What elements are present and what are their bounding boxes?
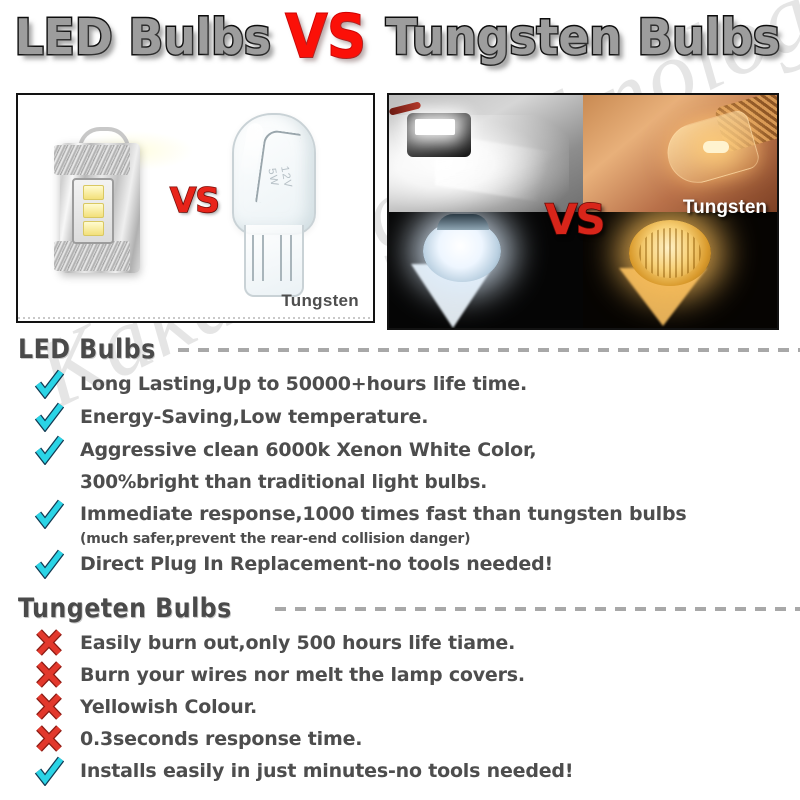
check-icon xyxy=(34,369,64,399)
tungsten-section-title: Tungeten Bulbs xyxy=(18,594,232,624)
list-item-label: Burn your wires nor melt the lamp covers… xyxy=(80,664,525,686)
tungsten-filament-glow xyxy=(703,141,729,153)
photo-tungsten-bulb-lit xyxy=(583,95,777,212)
list-item: Burn your wires nor melt the lamp covers… xyxy=(0,659,800,691)
led-chip-window xyxy=(72,178,114,244)
list-item-label: Aggressive clean 6000k Xenon White Color… xyxy=(80,439,536,461)
list-item-body: Installs easily in just minutes-no tools… xyxy=(64,755,800,787)
list-item-label-continued: 300%bright than traditional light bulbs. xyxy=(80,466,778,498)
tungsten-headlight-reflector-rings xyxy=(639,228,701,278)
led-chip xyxy=(83,203,104,218)
led-section-title: LED Bulbs xyxy=(18,335,156,365)
list-item-subtext: (much safer,prevent the rear-end collisi… xyxy=(80,531,470,547)
led-bulb-illustration xyxy=(52,125,148,290)
tungsten-caption-right: Tungsten xyxy=(683,197,767,219)
list-item-body: Easily burn out,only 500 hours life tiam… xyxy=(64,627,800,659)
tungsten-caption-left: Tungsten xyxy=(281,291,359,311)
check-icon xyxy=(34,402,64,432)
list-item-body: Yellowish Colour. xyxy=(64,691,800,723)
list-item: 0.3seconds response time. xyxy=(0,723,800,755)
tungsten-lead xyxy=(290,235,292,281)
tungsten-bulbs-section: Tungeten Bulbs Easily burn out,only 500 … xyxy=(0,591,800,787)
check-icon xyxy=(34,499,64,529)
led-feature-list: Long Lasting,Up to 50000+hours life time… xyxy=(0,368,800,581)
tungsten-bulb-illustration: 12V 5W xyxy=(214,113,334,303)
led-heatsink-fin-top xyxy=(54,145,130,175)
list-item: Energy-Saving,Low temperature. xyxy=(0,401,800,434)
list-item-label: Easily burn out,only 500 hours life tiam… xyxy=(80,632,515,654)
list-item-body: Aggressive clean 6000k Xenon White Color… xyxy=(64,434,800,498)
led-heatsink-fin-bottom xyxy=(54,241,130,271)
title-tungsten-bulbs: Tungsten Bulbs xyxy=(386,7,780,69)
list-item-body: Immediate response,1000 times fast than … xyxy=(64,498,800,548)
list-item-body: Burn your wires nor melt the lamp covers… xyxy=(64,659,800,691)
check-icon xyxy=(34,756,64,786)
list-item-body: 0.3seconds response time. xyxy=(64,723,800,755)
list-item-body: Direct Plug In Replacement-no tools need… xyxy=(64,548,800,580)
list-item: Yellowish Colour. xyxy=(0,691,800,723)
tungsten-section-header: Tungeten Bulbs xyxy=(0,591,800,627)
tungsten-lead xyxy=(280,235,282,281)
tungsten-lead xyxy=(252,235,254,281)
tungsten-section-dashed-rule xyxy=(275,607,800,611)
list-item: Long Lasting,Up to 50000+hours life time… xyxy=(0,368,800,401)
list-item-label: Immediate response,1000 times fast than … xyxy=(80,503,687,525)
list-item-body: Long Lasting,Up to 50000+hours life time… xyxy=(64,368,800,400)
led-section-header: LED Bulbs xyxy=(0,332,800,368)
list-item-label: 0.3seconds response time. xyxy=(80,728,362,750)
cross-icon xyxy=(34,724,64,754)
led-headlight-hood xyxy=(437,214,489,230)
beam-comparison-photo-right: VS Tungsten xyxy=(387,93,779,330)
led-emitter xyxy=(415,119,455,135)
list-item: Easily burn out,only 500 hours life tiam… xyxy=(0,627,800,659)
list-item-label: Installs easily in just minutes-no tools… xyxy=(80,760,573,782)
title-led-bulbs: LED Bulbs xyxy=(15,7,271,69)
list-item: Installs easily in just minutes-no tools… xyxy=(0,755,800,787)
led-section-dashed-rule xyxy=(178,348,800,352)
tungsten-feature-list: Easily burn out,only 500 hours life tiam… xyxy=(0,627,800,787)
vs-badge-right: VS xyxy=(545,195,604,244)
list-item-label: Yellowish Colour. xyxy=(80,696,257,718)
cross-icon xyxy=(34,692,64,722)
cross-icon xyxy=(34,628,64,658)
check-icon xyxy=(34,435,64,465)
list-item-label: Energy-Saving,Low temperature. xyxy=(80,406,428,428)
tungsten-lead xyxy=(262,235,264,281)
check-icon xyxy=(34,549,64,579)
tungsten-leads xyxy=(250,235,294,283)
page-title: LED BulbsVSTungsten Bulbs xyxy=(0,6,800,69)
photo-tungsten-headlight-beam xyxy=(583,212,777,329)
cross-icon xyxy=(34,660,64,690)
list-item-body: Energy-Saving,Low temperature. xyxy=(64,401,800,433)
list-item: Aggressive clean 6000k Xenon White Color… xyxy=(0,434,800,498)
list-item: Immediate response,1000 times fast than … xyxy=(0,498,800,548)
led-bulbs-section: LED Bulbs Long Lasting,Up to 50000+hours… xyxy=(0,332,800,581)
product-comparison-photo-left: VS 12V 5W Tungsten xyxy=(16,93,375,323)
panel-bottom-dotted-edge xyxy=(18,317,373,319)
title-vs: VS xyxy=(286,6,367,68)
led-chip xyxy=(83,185,104,200)
vs-badge-left: VS xyxy=(170,181,219,221)
list-item: Direct Plug In Replacement-no tools need… xyxy=(0,548,800,581)
feature-lists: LED Bulbs Long Lasting,Up to 50000+hours… xyxy=(0,332,800,787)
list-item-label: Long Lasting,Up to 50000+hours life time… xyxy=(80,373,527,395)
list-item-label: Direct Plug In Replacement-no tools need… xyxy=(80,553,553,575)
led-chip xyxy=(83,221,104,236)
